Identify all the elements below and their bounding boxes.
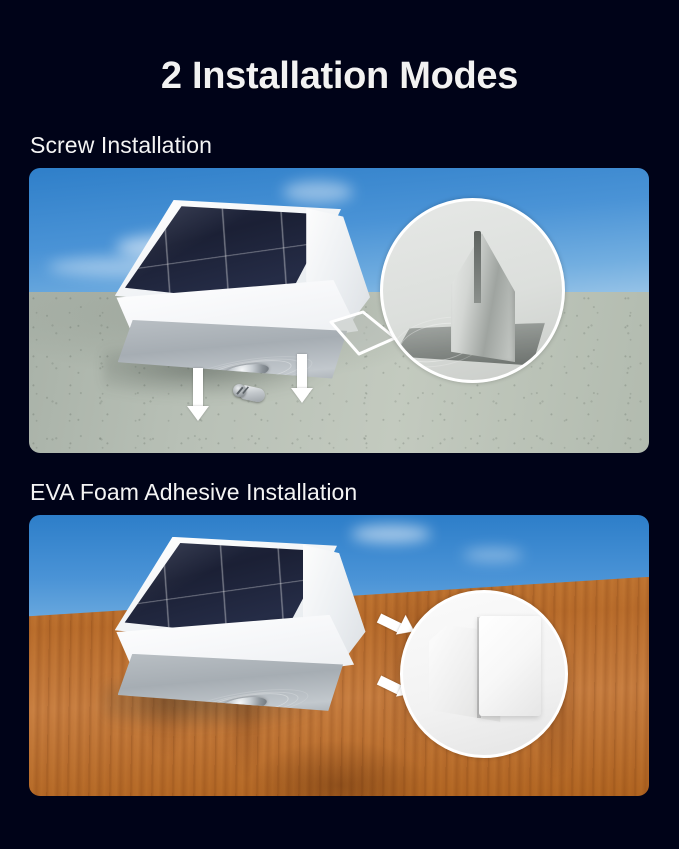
- page-title: 2 Installation Modes: [0, 55, 679, 98]
- cloud-shape: [463, 548, 523, 562]
- scene-wood-fence: [29, 515, 649, 796]
- scene-concrete-wall: [29, 168, 649, 453]
- photo-panel-eva-foam-installation: [29, 515, 649, 796]
- section-label-screw: Screw Installation: [30, 132, 212, 159]
- section-label-eva-foam: EVA Foam Adhesive Installation: [30, 479, 357, 506]
- eva-foam-adhesive-pad: [479, 616, 541, 716]
- solar-light-fixture: [109, 196, 399, 396]
- callout-circle-foam-pad: [400, 590, 568, 758]
- screw-and-anchor-icon: [233, 384, 267, 404]
- callout-circle-keyhole: [380, 198, 565, 383]
- infographic-page: 2 Installation Modes Screw Installation: [0, 0, 679, 849]
- keyhole-mount-wedge: [451, 233, 515, 362]
- screw-head: [233, 384, 246, 397]
- solar-light-fixture: [109, 533, 394, 728]
- keyhole-slot: [474, 231, 481, 303]
- photo-panel-screw-installation: [29, 168, 649, 453]
